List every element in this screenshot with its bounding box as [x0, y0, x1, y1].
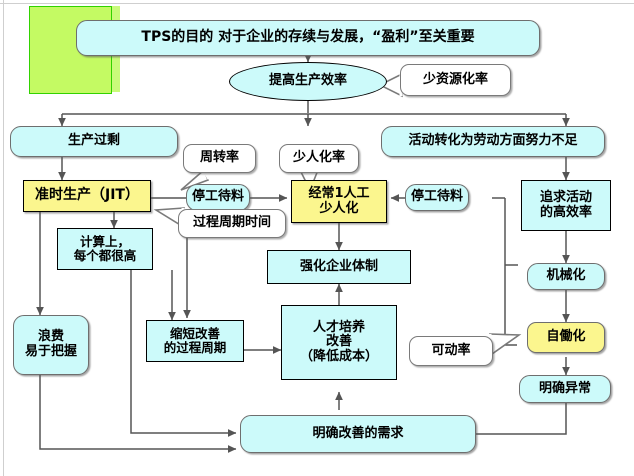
node-clarify-improvement-need[interactable]: 明确改善的需求	[240, 415, 476, 453]
node-one-person-operation[interactable]: 经常1人工 少人化	[291, 180, 387, 223]
node-calculation-high[interactable]: 计算上， 每个都很高	[57, 228, 153, 270]
callout-turnover-rate[interactable]: 周转率	[183, 144, 256, 173]
diagram-canvas: TPS的目的 对于企业的存续与发展，“盈利”至关重要 提高生产效率 少资源化率 …	[0, 0, 634, 476]
node-clarify-abnormality[interactable]: 明确异常	[519, 375, 611, 403]
node-jidoka[interactable]: 自働化	[527, 322, 605, 353]
top-guide-line	[0, 3, 634, 4]
node-jit[interactable]: 准时生产（JIT）	[23, 180, 151, 212]
node-mechanization[interactable]: 机械化	[527, 263, 605, 290]
callout-operating-rate[interactable]: 可动率	[409, 336, 493, 366]
node-pursue-high-efficiency[interactable]: 追求活动 的高效率	[521, 180, 611, 231]
node-shorten-improvement-cycle[interactable]: 缩短改善 的过程周期	[146, 320, 244, 362]
callout-less-manpower-rate[interactable]: 少人化率	[279, 144, 359, 173]
node-raise-efficiency[interactable]: 提高生产效率	[229, 62, 387, 101]
callout-process-cycle-time[interactable]: 过程周期时间	[178, 209, 286, 238]
node-stop-wait-right[interactable]: 停工待料	[405, 184, 469, 211]
node-waste-easy-grasp[interactable]: 浪费 易于把握	[13, 315, 89, 375]
node-activity-conversion-shortfall[interactable]: 活动转化为劳动方面努力不足	[381, 126, 605, 157]
node-tps-goal[interactable]: TPS的目的 对于企业的存续与发展，“盈利”至关重要	[76, 20, 540, 56]
callout-less-resource-rate[interactable]: 少资源化率	[400, 64, 511, 96]
left-guide-line	[3, 0, 4, 476]
node-overproduction[interactable]: 生产过剩	[10, 126, 178, 157]
node-talent-development[interactable]: 人才培养 改善 （降低成本）	[281, 305, 397, 380]
node-stop-wait-left[interactable]: 停工待料	[186, 184, 250, 211]
node-strengthen-enterprise[interactable]: 强化企业体制	[267, 250, 411, 284]
